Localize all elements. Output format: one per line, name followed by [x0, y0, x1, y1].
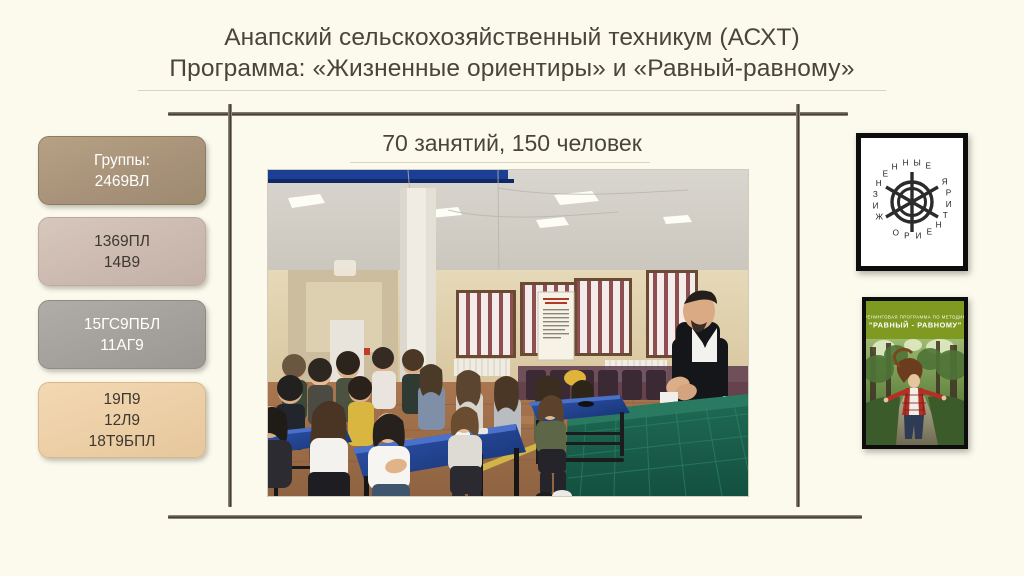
- svg-text:И: И: [873, 201, 879, 210]
- group-box-3-line-1: 15ГС9ПБЛ: [84, 314, 160, 335]
- title-divider: [138, 90, 886, 91]
- sidebar-group-box-3[interactable]: 15ГС9ПБЛ 11АГ9: [38, 300, 206, 369]
- frame-horizontal-top-rule: [168, 112, 848, 116]
- sidebar-group-box-4[interactable]: 19П9 12Л9 18Т9БПЛ: [38, 382, 206, 458]
- svg-text:И: И: [946, 200, 952, 209]
- poster-photo: [866, 339, 964, 445]
- svg-text:О: О: [893, 228, 899, 237]
- sidebar-group-box-2[interactable]: 1369ПЛ 14В9: [38, 217, 206, 286]
- classroom-photo: [268, 170, 748, 496]
- svg-text:З: З: [873, 190, 878, 199]
- group-box-4-line-1: 19П9: [103, 389, 140, 410]
- group-box-1-line-1: Группы:: [94, 150, 150, 171]
- peer-to-peer-poster-card: ТРЕНИНГОВАЯ ПРОГРАММА ПО МЕТОДИКЕ "РАВНЫ…: [862, 297, 968, 449]
- svg-text:Ж: Ж: [876, 212, 884, 221]
- page-title-line-1: Анапский сельскохозяйственный техникум (…: [0, 22, 1024, 53]
- group-box-4-line-2: 12Л9: [104, 410, 140, 431]
- group-box-2-line-1: 1369ПЛ: [94, 231, 150, 252]
- frame-horizontal-bottom-rule: [168, 515, 862, 519]
- slide-canvas: Анапский сельскохозяйственный техникум (…: [0, 0, 1024, 576]
- ships-wheel-icon: Ж И З Н Е Н Н Ы Е Я Р И Т Н Е И Р О: [861, 138, 963, 266]
- session-count-heading: 70 занятий, 150 человек: [236, 128, 788, 158]
- frame-vertical-left-rule: [228, 104, 232, 507]
- svg-text:И: И: [915, 231, 921, 240]
- svg-text:Н: Н: [892, 162, 898, 171]
- svg-text:Р: Р: [946, 189, 952, 198]
- svg-text:Е: Е: [927, 228, 933, 237]
- frame-vertical-right-rule: [796, 104, 800, 507]
- svg-text:Н: Н: [876, 179, 882, 188]
- svg-text:Е: Е: [925, 162, 931, 171]
- group-box-2-line-2: 14В9: [104, 252, 140, 273]
- svg-text:Н: Н: [903, 159, 909, 168]
- life-orientation-logo-card: Ж И З Н Е Н Н Ы Е Я Р И Т Н Е И Р О: [856, 133, 968, 271]
- group-box-3-line-2: 11АГ9: [100, 335, 143, 356]
- svg-text:Е: Е: [883, 169, 889, 178]
- page-title: Анапский сельскохозяйственный техникум (…: [0, 22, 1024, 84]
- group-box-4-line-3: 18Т9БПЛ: [89, 431, 156, 452]
- svg-text:Я: Я: [942, 178, 948, 187]
- session-count-divider: [350, 162, 650, 163]
- poster-kicker: ТРЕНИНГОВАЯ ПРОГРАММА ПО МЕТОДИКЕ: [862, 314, 968, 319]
- svg-text:Н: Н: [936, 221, 942, 230]
- poster-header: ТРЕНИНГОВАЯ ПРОГРАММА ПО МЕТОДИКЕ "РАВНЫ…: [866, 301, 964, 339]
- page-title-line-2: Программа: «Жизненные ориентиры» и «Равн…: [0, 53, 1024, 84]
- svg-text:Р: Р: [904, 232, 910, 241]
- svg-text:Т: Т: [943, 211, 948, 220]
- sidebar-group-box-1[interactable]: Группы: 2469ВЛ: [38, 136, 206, 205]
- svg-text:Ы: Ы: [914, 158, 921, 167]
- poster-title: "РАВНЫЙ - РАВНОМУ": [869, 321, 962, 329]
- group-box-1-line-2: 2469ВЛ: [95, 171, 150, 192]
